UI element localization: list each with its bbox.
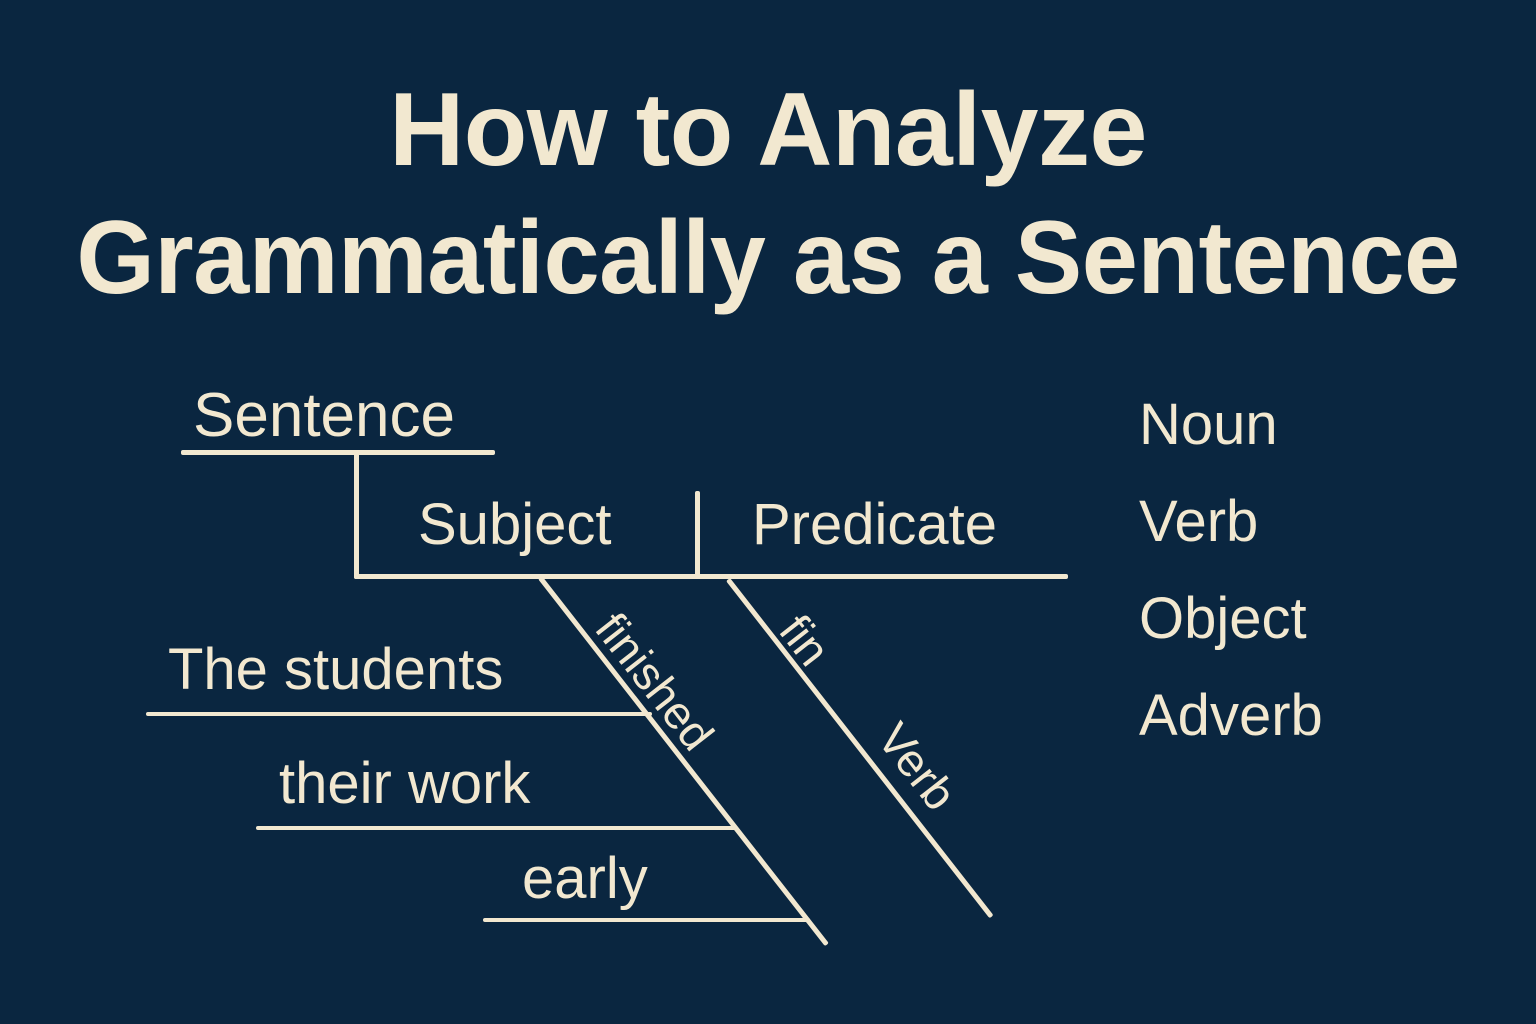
diagram-canvas: How to Analyze Grammatically as a Senten…	[0, 0, 1536, 1024]
diagram-label-predicate: Predicate	[752, 496, 997, 554]
page-title: How to Analyze Grammatically as a Senten…	[0, 78, 1536, 310]
clause-rail	[354, 574, 1068, 579]
legend-item-verb: Verb	[1139, 493, 1469, 551]
diagram-phrase-the-students: The students	[168, 641, 503, 699]
legend-item-object: Object	[1139, 590, 1469, 648]
phrase-rail-the-students	[146, 712, 652, 716]
parts-of-speech-legend: Noun Verb Object Adverb	[1139, 396, 1469, 784]
diagram-label-sentence: Sentence	[193, 385, 455, 447]
legend-item-noun: Noun	[1139, 396, 1469, 454]
diagram-phrase-their-work: their work	[279, 755, 530, 813]
legend-item-adverb: Adverb	[1139, 687, 1469, 745]
diagram-diagonal-label-fin: fin	[772, 607, 838, 674]
diagram-label-subject: Subject	[418, 496, 611, 554]
diagram-diagonal-label-verb: Verb	[870, 715, 965, 818]
phrase-rail-early	[483, 918, 810, 922]
subject-predicate-divider	[695, 491, 700, 579]
sentence-rail	[181, 450, 495, 455]
diagram-phrase-early: early	[522, 850, 648, 908]
phrase-rail-their-work	[256, 826, 737, 830]
title-line-1: How to Analyze	[0, 78, 1536, 182]
diagram-diagonal-label-finished: finished	[588, 605, 722, 758]
sentence-to-clause-connector	[354, 450, 359, 579]
title-line-2: Grammatically as a Sentence	[23, 206, 1513, 310]
